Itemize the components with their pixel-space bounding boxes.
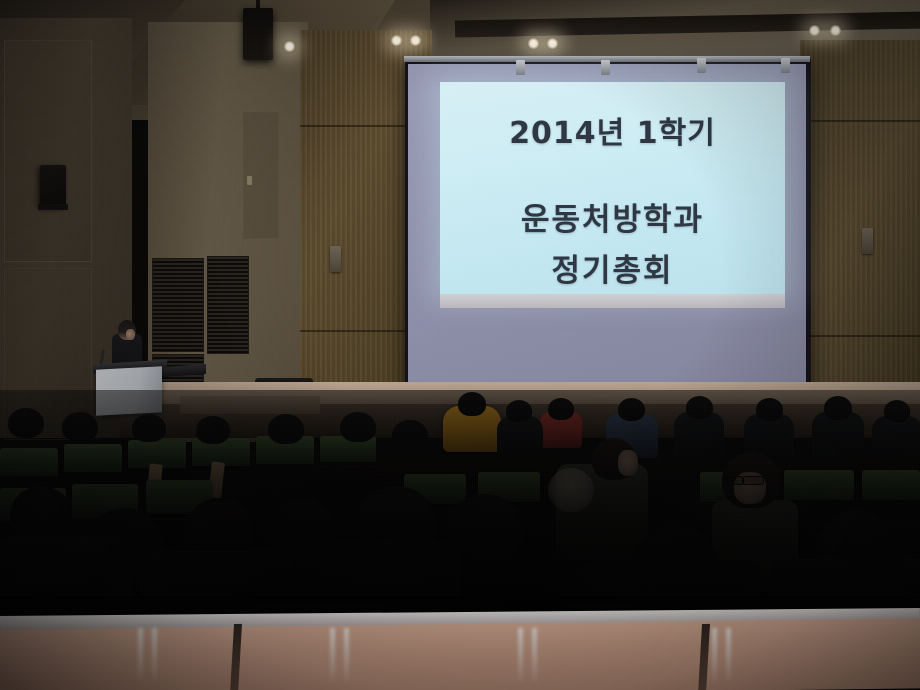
wall-vent <box>207 256 249 354</box>
desk-light-reflection <box>712 628 717 682</box>
audience-shadow-overlay <box>0 390 920 630</box>
slide-title-line2: 운동처방학과 <box>521 194 704 239</box>
slide-title-line3: 정기총회 <box>551 245 673 290</box>
slide-title-line1: 2014년 1학기 <box>509 108 716 152</box>
wall-fixture-icon <box>330 246 341 272</box>
ceiling-speaker-icon <box>243 8 273 60</box>
ceiling-spotlight-icon <box>829 24 842 37</box>
screen-clip-icon <box>697 58 706 73</box>
desk-light-reflection <box>344 628 349 682</box>
slide-bottom-band <box>440 294 785 308</box>
ceiling-spotlight-icon <box>527 37 540 50</box>
speaker-bracket <box>38 204 68 210</box>
ceiling-spotlight-icon <box>390 34 403 47</box>
screen-clip-icon <box>516 60 525 75</box>
desk-light-reflection <box>152 628 157 682</box>
ceiling-spotlight-icon <box>546 37 559 50</box>
wall-speaker-icon <box>40 165 66 207</box>
desk-light-reflection <box>518 628 523 682</box>
auditorium-photo: 2014년 1학기 운동처방학과 정기총회 <box>0 0 920 690</box>
wall-fixture-icon <box>862 228 873 254</box>
wall-wood-panel-right <box>800 40 920 430</box>
screen-clip-icon <box>781 58 790 73</box>
presenter-face <box>126 329 135 340</box>
desk-light-reflection <box>726 628 731 682</box>
door-knob-icon[interactable] <box>247 176 252 185</box>
desk-light-reflection <box>330 628 335 682</box>
ceiling-spotlight-icon <box>808 24 821 37</box>
screen-clip-icon <box>601 60 610 75</box>
wall-panel-upper <box>4 40 92 262</box>
ceiling-spotlight-icon <box>409 34 422 47</box>
desk-light-reflection <box>532 628 537 682</box>
ceiling-spotlight-icon <box>283 40 296 53</box>
wall-vent <box>152 258 204 352</box>
desk-light-reflection <box>138 628 143 682</box>
slide-content: 2014년 1학기 운동처방학과 정기총회 <box>440 82 785 294</box>
